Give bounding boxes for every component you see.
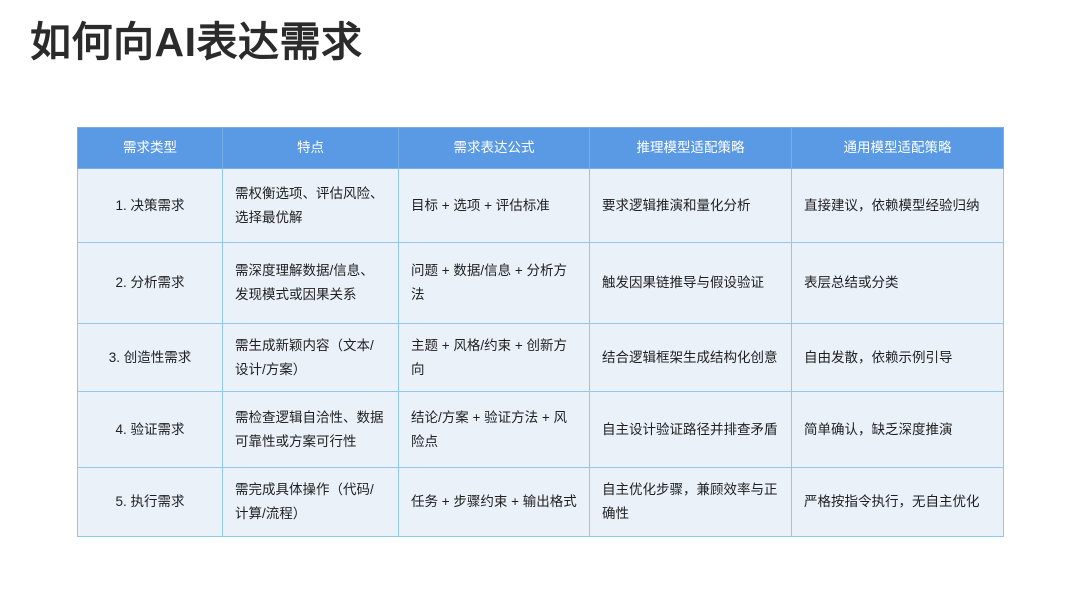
cell-requirement-type: 3. 创造性需求: [78, 324, 223, 392]
column-header-reasoning-model-strategy: 推理模型适配策略: [590, 128, 792, 169]
cell-reasoning-model-strategy: 结合逻辑框架生成结构化创意: [590, 324, 792, 392]
cell-general-model-strategy: 严格按指令执行，无自主优化: [792, 468, 1004, 536]
cell-general-model-strategy: 简单确认，缺乏深度推演: [792, 392, 1004, 468]
cell-expression-formula: 主题 + 风格/约束 + 创新方向: [399, 324, 590, 392]
cell-general-model-strategy: 表层总结或分类: [792, 243, 1004, 324]
cell-expression-formula: 结论/方案 + 验证方法 + 风险点: [399, 392, 590, 468]
cell-characteristics: 需权衡选项、评估风险、选择最优解: [223, 169, 399, 243]
column-header-characteristics: 特点: [223, 128, 399, 169]
cell-requirement-type: 2. 分析需求: [78, 243, 223, 324]
cell-characteristics: 需生成新颖内容（文本/设计/方案）: [223, 324, 399, 392]
requirement-table-container: 需求类型 特点 需求表达公式 推理模型适配策略 通用模型适配策略 1. 决策需求…: [77, 127, 1003, 537]
slide-canvas: 如何向AI表达需求 需求类型 特点 需求表达公式 推理模型适配策略 通用模型适配…: [0, 0, 1080, 608]
cell-reasoning-model-strategy: 要求逻辑推演和量化分析: [590, 169, 792, 243]
cell-characteristics: 需深度理解数据/信息、发现模式或因果关系: [223, 243, 399, 324]
cell-expression-formula: 目标 + 选项 + 评估标准: [399, 169, 590, 243]
table-row: 1. 决策需求 需权衡选项、评估风险、选择最优解 目标 + 选项 + 评估标准 …: [78, 169, 1004, 243]
cell-general-model-strategy: 自由发散，依赖示例引导: [792, 324, 1004, 392]
table-row: 5. 执行需求 需完成具体操作（代码/计算/流程） 任务 + 步骤约束 + 输出…: [78, 468, 1004, 536]
cell-requirement-type: 4. 验证需求: [78, 392, 223, 468]
cell-characteristics: 需完成具体操作（代码/计算/流程）: [223, 468, 399, 536]
cell-characteristics: 需检查逻辑自洽性、数据可靠性或方案可行性: [223, 392, 399, 468]
column-header-requirement-type: 需求类型: [78, 128, 223, 169]
cell-expression-formula: 任务 + 步骤约束 + 输出格式: [399, 468, 590, 536]
page-title: 如何向AI表达需求: [30, 17, 363, 68]
requirement-types-table: 需求类型 特点 需求表达公式 推理模型适配策略 通用模型适配策略 1. 决策需求…: [77, 127, 1004, 537]
cell-reasoning-model-strategy: 自主优化步骤，兼顾效率与正确性: [590, 468, 792, 536]
cell-reasoning-model-strategy: 自主设计验证路径并排查矛盾: [590, 392, 792, 468]
table-row: 3. 创造性需求 需生成新颖内容（文本/设计/方案） 主题 + 风格/约束 + …: [78, 324, 1004, 392]
cell-general-model-strategy: 直接建议，依赖模型经验归纳: [792, 169, 1004, 243]
column-header-expression-formula: 需求表达公式: [399, 128, 590, 169]
table-header: 需求类型 特点 需求表达公式 推理模型适配策略 通用模型适配策略: [78, 128, 1004, 169]
table-body: 1. 决策需求 需权衡选项、评估风险、选择最优解 目标 + 选项 + 评估标准 …: [78, 169, 1004, 537]
table-row: 4. 验证需求 需检查逻辑自洽性、数据可靠性或方案可行性 结论/方案 + 验证方…: [78, 392, 1004, 468]
table-row: 2. 分析需求 需深度理解数据/信息、发现模式或因果关系 问题 + 数据/信息 …: [78, 243, 1004, 324]
cell-reasoning-model-strategy: 触发因果链推导与假设验证: [590, 243, 792, 324]
cell-requirement-type: 1. 决策需求: [78, 169, 223, 243]
table-header-row: 需求类型 特点 需求表达公式 推理模型适配策略 通用模型适配策略: [78, 128, 1004, 169]
cell-requirement-type: 5. 执行需求: [78, 468, 223, 536]
cell-expression-formula: 问题 + 数据/信息 + 分析方法: [399, 243, 590, 324]
column-header-general-model-strategy: 通用模型适配策略: [792, 128, 1004, 169]
